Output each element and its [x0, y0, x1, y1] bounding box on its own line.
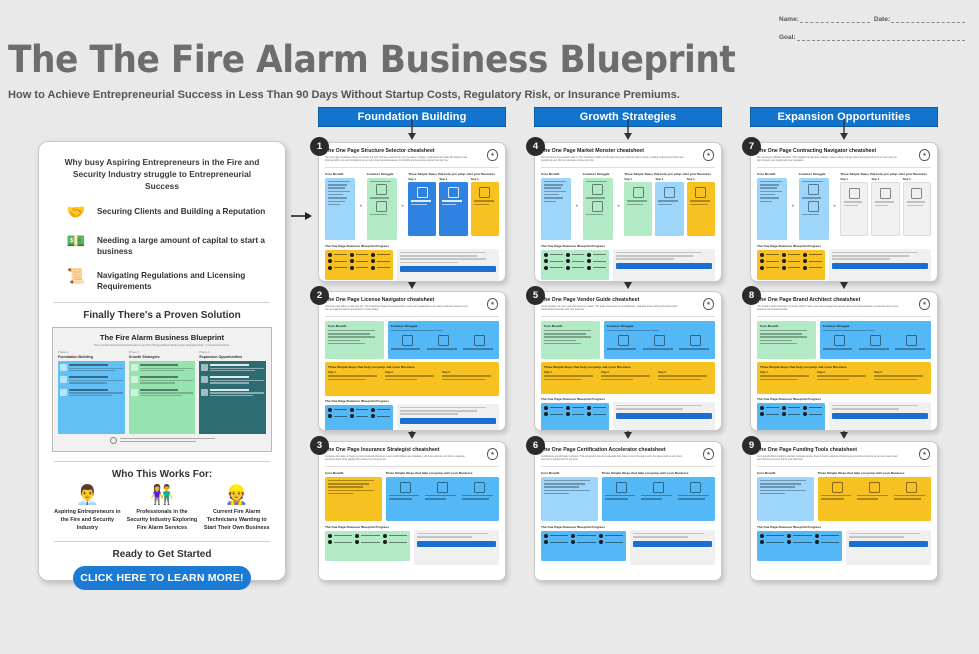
- section-heading: Common Struggle: [391, 324, 496, 328]
- list-item[interactable]: [350, 414, 369, 418]
- list-item[interactable]: [760, 406, 779, 410]
- card-cta-button[interactable]: [633, 541, 712, 547]
- section-heading: Core Benefit: [541, 471, 598, 475]
- page-title: The The Fire Alarm Business Blueprint: [8, 38, 735, 81]
- mini-blueprint-preview[interactable]: The Fire Alarm Business Blueprint How to…: [52, 327, 272, 452]
- step-label: Step 2: [871, 178, 899, 181]
- cheatsheet-card-3[interactable]: The One Page Insurance Strategist cheats…: [318, 441, 506, 581]
- list-item[interactable]: [383, 534, 407, 538]
- shield-icon: [448, 187, 459, 198]
- step-3: [894, 480, 928, 502]
- core-benefit-section: Core Benefit: [325, 172, 355, 240]
- cheatsheet-card-6[interactable]: The One Page Certification Accelerator c…: [534, 441, 722, 581]
- steps-heading: Three Simple Steps that help you jump st…: [840, 172, 931, 176]
- steps-heading: Three Simple Steps that help you jump st…: [544, 365, 712, 369]
- card-number-badge-4: 4: [526, 137, 545, 156]
- card-title: The One Page Contracting Navigator cheat…: [757, 148, 931, 154]
- checklist-heading: The One Page Business Blueprint Progress: [757, 397, 825, 401]
- arrow-right-icon: ➤: [359, 203, 362, 208]
- ready-heading: Ready to Get Started: [52, 549, 272, 560]
- person-entrepreneur-icon: 👨‍💼: [52, 486, 123, 505]
- date-label: Date:: [874, 16, 890, 23]
- arrow-down-icon: [838, 119, 850, 141]
- list-item[interactable]: [355, 540, 379, 544]
- step-label: Step 3: [471, 178, 499, 181]
- list-item[interactable]: [566, 259, 585, 263]
- list-item[interactable]: [803, 266, 822, 270]
- checklist-section: The One Page Business Blueprint Progress: [757, 525, 842, 565]
- arrow-right-icon: ➤: [833, 203, 836, 208]
- list-item: 👨‍💼 Aspiring Entrepreneurs in the Fire a…: [52, 486, 123, 532]
- list-item[interactable]: [544, 412, 563, 416]
- step-1: [389, 480, 423, 502]
- steps-section: Three Simple Steps that help you jump st…: [541, 362, 715, 394]
- mini-entry-icon: [60, 389, 67, 396]
- list-item[interactable]: [371, 414, 390, 418]
- regulations-document-icon: 📜: [64, 267, 88, 287]
- list-item[interactable]: [566, 266, 585, 270]
- list-item[interactable]: [566, 412, 585, 416]
- card-cta-button[interactable]: [832, 413, 928, 419]
- document-icon: [437, 482, 448, 493]
- core-benefit-section: Core Benefit: [757, 471, 814, 521]
- step-1: Step 1: [328, 371, 382, 382]
- mini-entry-icon: [131, 376, 138, 383]
- card-number-badge-1: 1: [310, 137, 329, 156]
- step-label: Step 3: [874, 371, 928, 374]
- cheatsheet-card-5[interactable]: The One Page Vendor Guide cheatsheet Gre…: [534, 291, 722, 431]
- card-cta-button[interactable]: [832, 263, 928, 269]
- pain-label: Securing Clients and Building a Reputati…: [97, 203, 265, 217]
- card-title: The One Page Brand Architect cheatsheet: [757, 297, 931, 303]
- list-item[interactable]: [760, 259, 779, 263]
- arrow-down-icon: [406, 119, 418, 141]
- meta-fields: Name: Date: Goal:: [779, 16, 965, 52]
- mini-phase-label: Phase 1: [58, 350, 68, 354]
- card-number-badge-3: 3: [310, 436, 329, 455]
- name-label: Name:: [779, 16, 799, 23]
- list-item[interactable]: [355, 534, 379, 538]
- section-heading: Core Benefit: [325, 471, 382, 475]
- steps-heading: Three Simple Steps that help you jump st…: [386, 471, 499, 475]
- core-benefit-section: Core Benefit: [325, 321, 384, 359]
- card-cta-button[interactable]: [400, 266, 496, 272]
- core-benefit-section: Core Benefit: [325, 471, 382, 521]
- common-struggle-section: Common Struggle: [388, 321, 499, 359]
- arrow-right-icon: ➤: [791, 203, 794, 208]
- mini-entry-icon: [201, 389, 208, 396]
- step-2: [425, 480, 459, 502]
- core-benefit-section: Core Benefit: [541, 172, 571, 240]
- persona-caption: Current Fire Alarm Technicians Wanting t…: [201, 508, 272, 532]
- card-number-badge-2: 2: [310, 286, 329, 305]
- seal-icon: ★: [487, 448, 498, 460]
- list-item[interactable]: [599, 540, 623, 544]
- steps-section: Three Simple Steps that help you jump st…: [624, 172, 715, 240]
- step-3: Step 3: [903, 178, 931, 237]
- step-label: Step 2: [601, 371, 655, 374]
- list-item[interactable]: [587, 253, 606, 257]
- checklist-heading: The One Page Business Blueprint Progress: [541, 244, 609, 248]
- section-heading: Core Benefit: [757, 471, 814, 475]
- steps-section: Three Simple Steps that help you jump st…: [757, 362, 931, 394]
- contract-icon: [808, 184, 819, 195]
- step-2: Step 2: [385, 371, 439, 382]
- checklist-section: The One Page Business Blueprint Progress: [757, 397, 825, 431]
- card-title: The One Page Certification Accelerator c…: [541, 447, 715, 453]
- seal-icon: ★: [703, 149, 714, 161]
- list-item[interactable]: [803, 406, 822, 410]
- steps-heading: Three Simple Steps that help you jump st…: [818, 471, 931, 475]
- learn-more-button[interactable]: CLICK HERE TO LEARN MORE!: [73, 566, 251, 590]
- step-2: [857, 480, 891, 502]
- list-item[interactable]: [599, 534, 623, 538]
- card-number-badge-7: 7: [742, 137, 761, 156]
- list-item[interactable]: [803, 412, 822, 416]
- handshake-icon: [654, 335, 665, 346]
- list-item[interactable]: [328, 408, 347, 412]
- section-heading: Core Benefit: [760, 324, 813, 328]
- checklist-section: The One Page Business Blueprint Progress: [325, 244, 393, 282]
- card-description: Great suppliers cut your costs and speed…: [541, 306, 685, 314]
- list-item[interactable]: [383, 540, 407, 544]
- summary-section: [829, 244, 931, 282]
- arrow-right-icon: ➤: [575, 203, 578, 208]
- summary-section: [846, 525, 931, 565]
- list-item[interactable]: [350, 408, 369, 412]
- list-item[interactable]: [544, 259, 563, 263]
- list-item[interactable]: [328, 414, 347, 418]
- megaphone-icon: [695, 187, 706, 198]
- section-heading: Core Benefit: [544, 324, 597, 328]
- pen-icon: [808, 201, 819, 212]
- people-professionals-icon: 👫: [127, 486, 198, 505]
- name-input-line[interactable]: [800, 16, 870, 23]
- list-item[interactable]: [782, 406, 801, 410]
- mini-phase-label: Phase 2: [129, 350, 139, 354]
- cheatsheet-card-8[interactable]: The One Page Brand Architect cheatsheet …: [750, 291, 938, 431]
- gear-icon: [376, 201, 387, 212]
- core-benefit-section: Core Benefit: [541, 321, 600, 359]
- card-description: Insurance can make or break a young cont…: [325, 456, 469, 464]
- section-heading: Common Struggle: [607, 324, 712, 328]
- list-item[interactable]: [815, 540, 839, 544]
- mini-phase-name: Growth Strategies: [129, 355, 196, 359]
- step-2: Step 2: [871, 178, 899, 237]
- card-cta-button[interactable]: [849, 541, 928, 547]
- card-number-badge-8: 8: [742, 286, 761, 305]
- cheatsheet-card-1[interactable]: The One Page Structure Selector cheatshe…: [318, 142, 506, 282]
- step-1: [821, 480, 855, 502]
- section-heading: Common Struggle: [367, 172, 397, 176]
- list-item[interactable]: [544, 266, 563, 270]
- megaphone-icon: [906, 335, 917, 346]
- card-description: Certifications unlock bigger contracts. …: [541, 456, 685, 464]
- list-item[interactable]: [803, 253, 822, 257]
- step-label: Step 2: [655, 178, 683, 181]
- card-cta-button[interactable]: [616, 263, 712, 269]
- list-item: 👷 Current Fire Alarm Technicians Wanting…: [201, 486, 272, 532]
- cheatsheet-card-4[interactable]: The One Page Market Monster cheatsheet F…: [534, 142, 722, 282]
- page-subtitle: How to Achieve Entrepreneurial Success i…: [8, 89, 680, 101]
- person-technician-icon: 👷: [201, 486, 272, 505]
- step-3: Step 3: [874, 371, 928, 382]
- step-label: Step 1: [408, 178, 436, 181]
- list-item[interactable]: [544, 406, 563, 410]
- section-heading: Common Struggle: [583, 172, 613, 176]
- common-struggle-section: Common Struggle: [820, 321, 931, 359]
- summary-section: [613, 397, 715, 431]
- step-label: Step 1: [760, 371, 814, 374]
- list-item[interactable]: [328, 253, 347, 257]
- goal-row: Goal:: [779, 34, 965, 41]
- summary-section: [397, 399, 499, 431]
- arrow-right-icon: ➤: [617, 203, 620, 208]
- card-description: Find out where the demand really is. Thi…: [541, 157, 685, 165]
- clipboard-icon: [849, 188, 860, 199]
- list-item[interactable]: [350, 266, 369, 270]
- summary-section: [630, 525, 715, 565]
- card-title: The One Page Funding Tools cheatsheet: [757, 447, 931, 453]
- list-item[interactable]: [566, 253, 585, 257]
- list-item[interactable]: [328, 534, 352, 538]
- list-item[interactable]: [787, 534, 811, 538]
- list-item[interactable]: [371, 266, 390, 270]
- steps-section: Three Simple Steps that help you jump st…: [602, 471, 715, 521]
- list-item[interactable]: [760, 534, 784, 538]
- step-1: Step 1: [624, 178, 652, 237]
- calendar-icon: [479, 187, 490, 198]
- list-item[interactable]: [782, 259, 801, 263]
- card-description: Your brand is what customers remember. B…: [757, 306, 901, 314]
- step-3: Step 3: [442, 371, 496, 382]
- checklist-heading: The One Page Business Blueprint Progress: [325, 525, 410, 529]
- mini-phase-body: [199, 361, 266, 434]
- list-item[interactable]: [815, 534, 839, 538]
- step-3: [678, 480, 712, 502]
- list-item[interactable]: [587, 266, 606, 270]
- checklist-section: The One Page Business Blueprint Progress: [325, 525, 410, 565]
- shield-icon: [400, 482, 411, 493]
- card-cta-button[interactable]: [616, 413, 712, 419]
- checklist-heading: The One Page Business Blueprint Progress: [541, 525, 626, 529]
- list-item[interactable]: [350, 253, 369, 257]
- section-heading: Core Benefit: [328, 324, 381, 328]
- list-item[interactable]: [587, 406, 606, 410]
- core-benefit-section: Core Benefit: [757, 172, 787, 240]
- list-item[interactable]: [350, 259, 369, 263]
- step-3: Step 3: [687, 178, 715, 237]
- list-item[interactable]: [787, 540, 811, 544]
- step-label: Step 3: [658, 371, 712, 374]
- license-icon: [402, 335, 413, 346]
- steps-heading: Three Simple Steps that help you jump st…: [624, 172, 715, 176]
- step-label: Step 1: [544, 371, 598, 374]
- card-title: The One Page Vendor Guide cheatsheet: [541, 297, 715, 303]
- list-item[interactable]: [566, 406, 585, 410]
- mini-entry-icon: [201, 364, 208, 371]
- mini-phase-name: Foundation Building: [58, 355, 125, 359]
- steps-section: Three Simple Steps that help you jump st…: [325, 362, 499, 396]
- card-cta-button[interactable]: [400, 418, 496, 424]
- list-item[interactable]: [803, 259, 822, 263]
- steps-heading: Three Simple Steps that help you jump st…: [408, 172, 499, 176]
- persona-caption: Aspiring Entrepreneurs in the Fire and S…: [52, 508, 123, 532]
- summary-section: [829, 397, 931, 431]
- pain-headline: Why busy Aspiring Entrepreneurs in the F…: [58, 156, 266, 193]
- pain-label: Navigating Regulations and Licensing Req…: [97, 267, 270, 293]
- arrow-right-icon: [291, 210, 313, 222]
- list-item: 🤝 Securing Clients and Building a Reputa…: [54, 203, 270, 223]
- intro-panel: Why busy Aspiring Entrepreneurs in the F…: [38, 141, 286, 581]
- chart-icon: [592, 184, 603, 195]
- checklist-heading: The One Page Business Blueprint Progress: [757, 244, 825, 248]
- card-number-badge-6: 6: [526, 436, 545, 455]
- pain-label: Needing a large amount of capital to sta…: [97, 232, 270, 258]
- step-3: Step 3: [471, 178, 499, 237]
- mini-entry-icon: [131, 364, 138, 371]
- step-1: Step 1: [840, 178, 868, 237]
- card-title: The One Page Insurance Strategist cheats…: [325, 447, 499, 453]
- handshake-icon: [880, 188, 891, 199]
- list-item[interactable]: [571, 534, 595, 538]
- checklist-heading: The One Page Business Blueprint Progress: [541, 397, 609, 401]
- certificate-icon: [616, 482, 627, 493]
- list-item[interactable]: [544, 540, 568, 544]
- section-heading: Common Struggle: [799, 172, 829, 176]
- card-number-badge-9: 9: [742, 436, 761, 455]
- list-item[interactable]: [371, 408, 390, 412]
- list-item[interactable]: [371, 253, 390, 257]
- list-item[interactable]: [544, 534, 568, 538]
- summary-section: [613, 244, 715, 282]
- mini-phase-body: [58, 361, 125, 434]
- mini-phase-name: Expansion Opportunities: [199, 355, 266, 359]
- bank-icon: [869, 482, 880, 493]
- seal-icon: ★: [487, 149, 498, 161]
- list-item[interactable]: [328, 259, 347, 263]
- solution-heading: Finally There's a Proven Solution: [52, 310, 272, 321]
- document-icon: [438, 335, 449, 346]
- step-label: Step 2: [439, 178, 467, 181]
- list-item[interactable]: [782, 266, 801, 270]
- seal-icon: ★: [703, 448, 714, 460]
- checklist-section: The One Page Business Blueprint Progress: [541, 397, 609, 431]
- step-label: Step 1: [840, 178, 868, 181]
- core-benefit-section: Core Benefit: [757, 321, 816, 359]
- date-input-line[interactable]: [891, 16, 965, 23]
- steps-section: Three Simple Steps that help you jump st…: [386, 471, 499, 521]
- step-2: Step 2: [817, 371, 871, 382]
- money-cash-icon: 💵: [64, 232, 88, 252]
- divider: [54, 541, 270, 542]
- monitor-icon: [911, 188, 922, 199]
- seal-icon: ★: [487, 298, 498, 310]
- logo-icon: [870, 335, 881, 346]
- step-2: Step 2: [655, 178, 683, 237]
- cheatsheet-card-7[interactable]: The One Page Contracting Navigator cheat…: [750, 142, 938, 282]
- summary-section: [397, 244, 499, 282]
- list-item[interactable]: [328, 540, 352, 544]
- list-item[interactable]: [760, 540, 784, 544]
- step-2: Step 2: [439, 178, 467, 237]
- handshake-clients-icon: 🤝: [64, 203, 88, 223]
- mini-phase-body: [129, 361, 196, 434]
- common-struggle-section: Common Struggle: [604, 321, 715, 359]
- step-1: [605, 480, 639, 502]
- cheatsheet-card-2[interactable]: The One Page License Navigator cheatshee…: [318, 291, 506, 431]
- step-label: Step 3: [903, 178, 931, 181]
- mini-entry-icon: [60, 376, 67, 383]
- card-number-badge-5: 5: [526, 286, 545, 305]
- section-heading: Common Struggle: [823, 324, 928, 328]
- list-item[interactable]: [587, 412, 606, 416]
- step-label: Step 3: [442, 371, 496, 374]
- step-1: Step 1: [544, 371, 598, 382]
- steps-heading: Three Simple Steps that help you jump st…: [328, 365, 496, 369]
- card-title: The One Page Structure Selector cheatshe…: [325, 148, 499, 154]
- section-heading: Core Benefit: [541, 172, 571, 176]
- list-item[interactable]: [760, 266, 779, 270]
- list-item[interactable]: [782, 253, 801, 257]
- persona-list: 👨‍💼 Aspiring Entrepreneurs in the Fire a…: [52, 486, 272, 532]
- common-struggle-section: Common Struggle: [367, 172, 397, 240]
- cheatsheet-card-9[interactable]: The One Page Funding Tools cheatsheet Fu…: [750, 441, 938, 581]
- list-item[interactable]: [544, 253, 563, 257]
- checklist-heading: The One Page Business Blueprint Progress: [757, 525, 842, 529]
- mini-blueprint-footer: [58, 437, 266, 444]
- audience-heading: Who This Works For:: [52, 469, 272, 480]
- seal-icon: ★: [703, 298, 714, 310]
- list-item[interactable]: [760, 412, 779, 416]
- list-item[interactable]: [587, 259, 606, 263]
- person-icon: [417, 187, 428, 198]
- target-icon: [592, 201, 603, 212]
- checklist-heading: The One Page Business Blueprint Progress: [325, 399, 393, 403]
- step-label: Step 3: [687, 178, 715, 181]
- list-item: 👫 Professionals in the Security Industry…: [127, 486, 198, 532]
- mini-entry-icon: [60, 364, 67, 371]
- list-item[interactable]: [328, 266, 347, 270]
- card-cta-button[interactable]: [417, 541, 496, 547]
- checklist-section: The One Page Business Blueprint Progress: [541, 244, 609, 282]
- step-label: Step 1: [624, 178, 652, 181]
- arrow-down-icon: [622, 119, 634, 141]
- mini-entry-icon: [201, 376, 208, 383]
- name-date-row: Name: Date:: [779, 16, 965, 23]
- step-3: [462, 480, 496, 502]
- mini-phase-2: Phase 2Growth Strategies: [129, 350, 196, 434]
- section-heading: Core Benefit: [325, 172, 355, 176]
- list-item[interactable]: [760, 253, 779, 257]
- pain-point-list: 🤝 Securing Clients and Building a Reputa…: [54, 203, 270, 293]
- mini-blueprint-subtitle: How to Achieve Entrepreneurial Success i…: [58, 344, 266, 348]
- palette-icon: [834, 335, 845, 346]
- mini-phase-3: Phase 3Expansion Opportunities: [199, 350, 266, 434]
- step-1: Step 1: [408, 178, 436, 237]
- list-item[interactable]: [782, 412, 801, 416]
- step-2: Step 2: [601, 371, 655, 382]
- card-title: The One Page License Navigator cheatshee…: [325, 297, 499, 303]
- list-item[interactable]: [371, 259, 390, 263]
- steps-section: Three Simple Steps that help you jump st…: [818, 471, 931, 521]
- divider: [54, 302, 270, 303]
- steps-section: Three Simple Steps that help you jump st…: [408, 172, 499, 240]
- goal-input-line[interactable]: [797, 34, 965, 41]
- common-struggle-section: Common Struggle: [799, 172, 829, 240]
- steps-heading: Three Simple Steps that help you jump st…: [602, 471, 715, 475]
- list-item[interactable]: [571, 540, 595, 544]
